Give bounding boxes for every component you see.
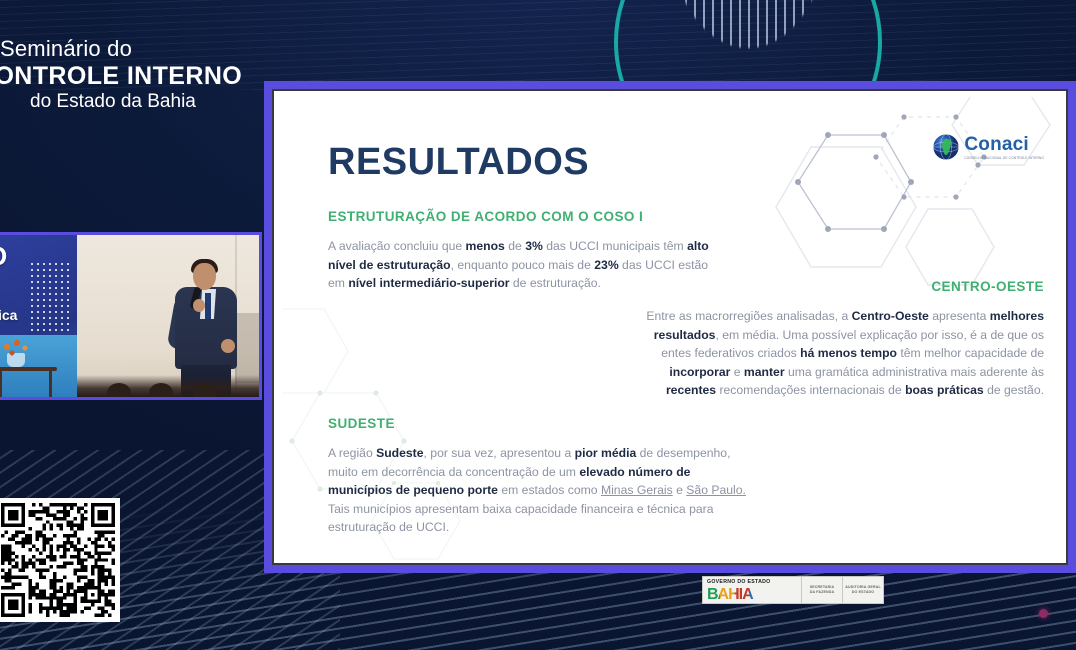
banner-dot-pattern [29,261,71,335]
magenta-dot-decoration [1039,609,1048,618]
conaci-tagline: CONSELHO NACIONAL DE CONTROLE INTERNO [964,156,1044,160]
section-heading-coso: ESTRUTURAÇÃO DE ACORDO COM O COSO I [328,209,728,224]
conaci-wordmark: Conaci [964,135,1044,154]
video-thumbnail-panel[interactable]: O a ública [0,232,262,400]
audience-head [107,383,131,400]
section-heading-sudeste: SUDESTE [328,416,748,431]
audience-head [149,383,173,400]
screen: Seminário do CONTROLE INTERNO do Estado … [0,0,1076,650]
government-logo: GOVERNO DO ESTADO BAHIA SECRETARIA DA FA… [702,576,884,604]
section-centro-oeste: CENTRO-OESTE Entre as macrorregiões anal… [636,279,1044,400]
table-leg [0,371,2,397]
presentation-slide: Conaci CONSELHO NACIONAL DE CONTROLE INT… [272,89,1068,565]
speaker-hand-holding-mic [193,299,205,312]
globe-icon [932,133,960,161]
speaker-tie [205,293,211,319]
government-logo-top-label: GOVERNO DO ESTADO [707,579,798,585]
presentation-slide-frame: Conaci CONSELHO NACIONAL DE CONTROLE INT… [264,81,1076,573]
section-paragraph-sudeste: A região Sudeste, por sua vez, apresento… [328,444,748,537]
speaker-hand [221,339,235,353]
banner-text-line1: O [0,241,7,272]
event-header-line3: do Estado da Bahia [0,91,242,113]
event-header: Seminário do CONTROLE INTERNO do Estado … [0,36,242,114]
audience-head [193,383,217,400]
speaker-head [193,263,216,290]
section-paragraph-centro-oeste: Entre as macrorregiões analisadas, a Cen… [636,307,1044,400]
qr-code-canvas [1,503,115,617]
arc-decoration [614,0,882,88]
event-header-line1: Seminário do [0,36,242,62]
government-logo-left: GOVERNO DO ESTADO BAHIA [703,577,801,603]
secretaria-line2: DA FAZENDA [810,590,835,595]
section-sudeste: SUDESTE A região Sudeste, por sua vez, a… [328,416,748,537]
qr-code[interactable] [0,498,120,622]
secretaria-fazenda-label: SECRETARIA DA FAZENDA [802,577,842,603]
banner-text-line3: ública [0,307,17,323]
arc-ring-icon [614,0,882,88]
table-leg [49,371,52,397]
auditoria-geral-label: AUDITORIA GERAL DO ESTADO [843,577,883,603]
event-header-line2: CONTROLE INTERNO [0,62,242,92]
audience-silhouette [77,375,259,397]
section-heading-centro-oeste: CENTRO-OESTE [636,279,1044,294]
bahia-wordmark: BAHIA [707,586,799,603]
wall-panel [235,313,259,383]
auditoria-line2: DO ESTADO [852,590,874,595]
page-title: RESULTADOS [328,141,589,184]
conaci-logo: Conaci CONSELHO NACIONAL DE CONTROLE INT… [932,133,1044,161]
flower-bouquet [1,339,31,357]
